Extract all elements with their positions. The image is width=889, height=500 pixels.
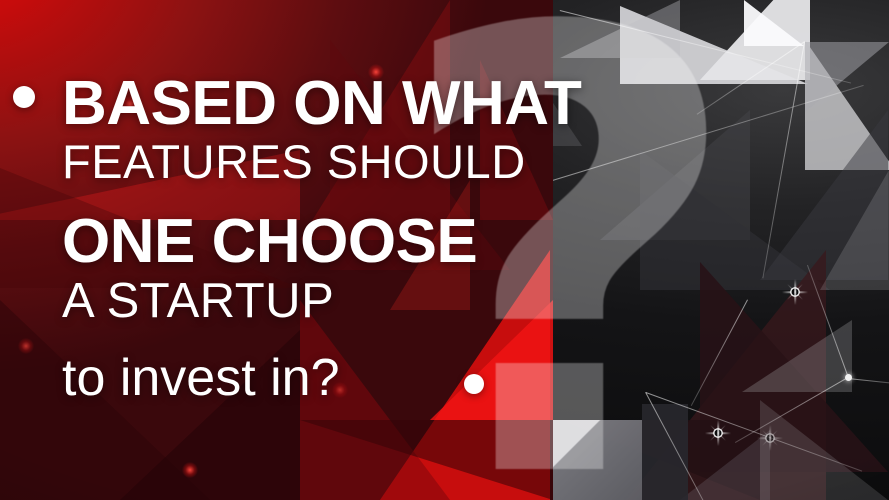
headline-line-2: FEATURES SHOULD [62, 134, 526, 189]
network-node [845, 374, 852, 381]
headline-line-4: A STARTUP [62, 273, 334, 329]
star-glint-icon [757, 425, 783, 451]
headline-line-1: BASED ON WHAT [62, 68, 581, 139]
headline-line-5: to invest in? [62, 348, 340, 408]
thumbnail-canvas: ? BASED ON WHAT FEATURES SHOULD ONE CHOO… [0, 0, 889, 500]
leading-bullet-dot [13, 86, 35, 108]
headline-block: BASED ON WHAT FEATURES SHOULD ONE CHOOSE… [0, 0, 553, 500]
trailing-bullet-dot [464, 374, 484, 394]
headline-line-3: ONE CHOOSE [62, 206, 477, 277]
star-glint-icon [705, 420, 731, 446]
star-glint-icon [782, 279, 808, 305]
